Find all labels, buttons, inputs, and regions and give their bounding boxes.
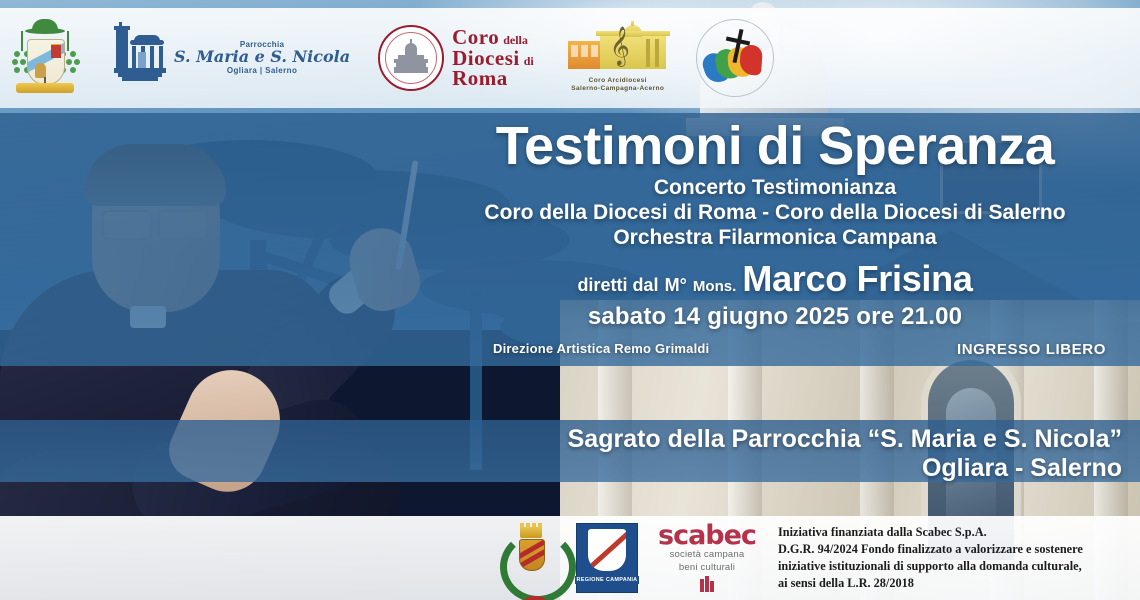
roma-word-di: di (524, 54, 534, 68)
conductor-line: diretti dal M° Mons. Marco Frisina (430, 258, 1120, 300)
parrocchia-line3: Ogliara | Salerno (174, 67, 350, 75)
page-title: Testimoni di Speranza (430, 118, 1120, 174)
treble-clef-icon: 𝄞 (610, 29, 630, 63)
funding-line-2: D.G.R. 94/2024 Fondo finalizzato a valor… (778, 541, 1083, 558)
venue-line1: Sagrato della Parrocchia “S. Maria e S. … (568, 425, 1122, 454)
regione-campania-label: REGIONE CAMPANIA (575, 576, 640, 584)
funding-line-3: iniziative istituzionali di supporto all… (778, 558, 1083, 575)
logo-coro-diocesi-roma: Coro della Diocesi di Roma (378, 25, 534, 91)
roma-seal-icon (378, 25, 444, 91)
subtitle-orchestra: Orchestra Filarmonica Campana (430, 226, 1120, 251)
funding-line-4: ai sensi della L.R. 28/2018 (778, 575, 1083, 592)
church-drawing-icon (112, 26, 168, 90)
footer-band: REGIONE CAMPANIA scabec società campana … (0, 516, 1140, 600)
logo-bishop-coat-of-arms (0, 17, 82, 99)
motto-ribbon (16, 83, 74, 93)
conductor-mons-abbr: Mons. (693, 278, 736, 295)
jubilee-motto-arc: Pellegrini di Speranza (696, 19, 774, 97)
logo-header-band: Parrocchia S. Maria e S. Nicola Ogliara … (0, 8, 1140, 108)
conductor-maestro-abbr: M° (665, 275, 687, 295)
event-datetime: sabato 14 giugno 2025 ore 21.00 (430, 303, 1120, 331)
subtitle-concert-type: Concerto Testimonianza (430, 176, 1120, 201)
main-text-block: Testimoni di Speranza Concerto Testimoni… (430, 118, 1120, 331)
free-entry-badge: INGRESSO LIBERO (957, 341, 1106, 358)
scabec-subtitle-line1: società campana (658, 550, 756, 561)
logo-comune-crest (500, 523, 562, 593)
heraldic-shield-icon (27, 39, 65, 85)
mural-crown-icon (520, 527, 542, 538)
salerno-line2: Salerno-Campagna-Acerno (566, 85, 670, 93)
scabec-subtitle-line2: beni culturali (658, 563, 756, 574)
salerno-line1: Coro Arcidiocesi (566, 77, 670, 85)
artistic-direction: Direzione Artistica Remo Grimaldi (493, 341, 709, 356)
campania-shield-icon (588, 529, 626, 571)
conductor-name: Marco Frisina (742, 258, 972, 299)
logo-scabec: scabec società campana beni culturali (658, 524, 756, 593)
logo-giubileo-2025: Pellegrini di Speranza (696, 19, 774, 97)
logo-parrocchia-santa-maria-san-nicola: Parrocchia S. Maria e S. Nicola Ogliara … (112, 26, 350, 90)
books-icon (700, 576, 714, 592)
subtitle-choirs: Coro della Diocesi di Roma - Coro della … (430, 201, 1120, 226)
roma-word-roma: Roma (452, 66, 508, 90)
venue-block: Sagrato della Parrocchia “S. Maria e S. … (568, 425, 1122, 483)
logo-coro-arcidiocesi-salerno: 𝄞 Coro Arcidiocesi Salerno-Campagna-Acer… (534, 23, 670, 94)
comune-shield-icon (519, 539, 545, 571)
conductor-prefix: diretti dal (577, 275, 658, 295)
logo-regione-campania: REGIONE CAMPANIA (576, 523, 638, 593)
salerno-cathedral-icon: 𝄞 (566, 23, 670, 75)
venue-line2: Ogliara - Salerno (568, 454, 1122, 483)
basilica-icon (394, 43, 428, 73)
funding-notice: Iniziativa finanziata dalla Scabec S.p.A… (778, 524, 1083, 592)
funding-line-1: Iniziativa finanziata dalla Scabec S.p.A… (778, 524, 1083, 541)
parrocchia-line2: S. Maria e S. Nicola (174, 49, 350, 66)
event-poster: Parrocchia S. Maria e S. Nicola Ogliara … (0, 0, 1140, 600)
scabec-wordmark: scabec (658, 524, 756, 548)
